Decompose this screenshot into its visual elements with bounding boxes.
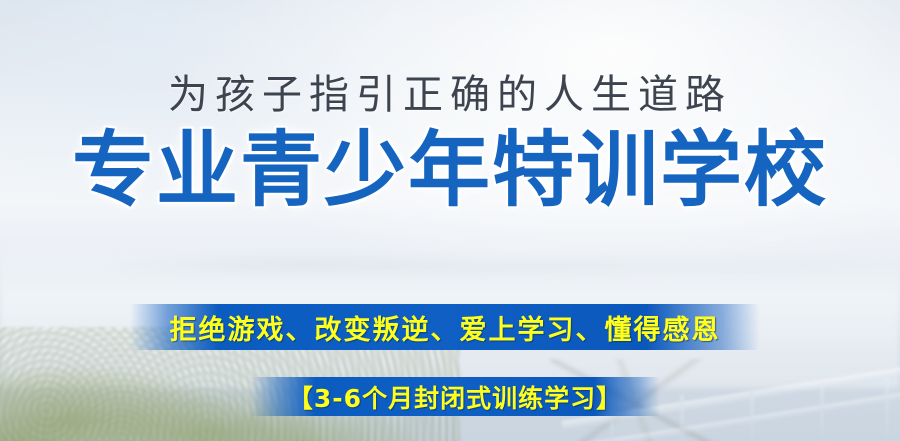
ribbon-duration-label: 【3-6个月封闭式训练学习】 [288,379,622,415]
promo-banner: 为孩子指引正确的人生道路 专业青少年特训学校 拒绝游戏、改变叛逆、爱上学习、懂得… [0,0,900,441]
page-title: 专业青少年特训学校 [0,128,900,214]
banner-text-layer: 为孩子指引正确的人生道路 专业青少年特训学校 拒绝游戏、改变叛逆、爱上学习、懂得… [0,0,900,441]
ribbon-benefits: 拒绝游戏、改变叛逆、爱上学习、懂得感恩 [130,304,760,350]
ribbon-duration: 【3-6个月封闭式训练学习】 [250,377,660,416]
ribbon-benefits-label: 拒绝游戏、改变叛逆、爱上学习、懂得感恩 [170,308,721,347]
headline-text: 为孩子指引正确的人生道路 [0,62,900,120]
